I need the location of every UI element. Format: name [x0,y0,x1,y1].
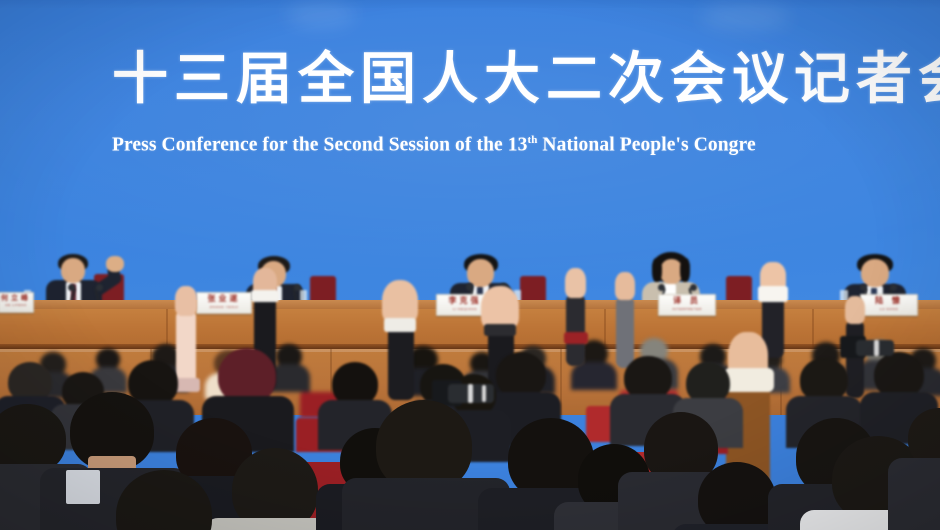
nameplate-0: 何立峰 HE LIFENG [0,292,34,313]
microphone-head [466,283,474,291]
nameplate-interpreter: 译 员 INTERPRETER [658,294,716,316]
banner: 十三届全国人大二次会议记者会 Press Conference for the … [0,44,940,158]
banner-english-title: Press Conference for the Second Session … [112,128,940,158]
microphone-head [890,284,897,291]
microphone-head [690,284,697,291]
table-seam [604,309,606,349]
english-title-superscript: th [527,134,537,146]
light-reflection [700,4,790,30]
microphone-head [96,284,103,291]
ceiling-strip [0,0,940,8]
camera-lens-ring [874,340,879,356]
nameplate-4: 陆 慷 LU KANG [860,294,918,316]
light-reflection [286,2,356,28]
camera-lens-ring [468,384,473,403]
nameplate-1: 张业遂 ZHANG YESUI [196,292,252,314]
table-seam [812,309,814,349]
english-title-part2: National People's Congre [537,135,755,156]
camera-lens-ring [482,385,486,402]
press-conference-photo: 十三届全国人大二次会议记者会 Press Conference for the … [0,0,940,530]
microphone-head [860,284,867,291]
english-title-part1: Press Conference for the Second Session … [112,135,527,156]
microphone-head [68,284,75,291]
banner-chinese-title: 十三届全国人大二次会议记者会 [112,44,940,114]
microphone-head [658,284,665,291]
table-seam [166,309,168,349]
gesturing-hand [106,256,124,272]
